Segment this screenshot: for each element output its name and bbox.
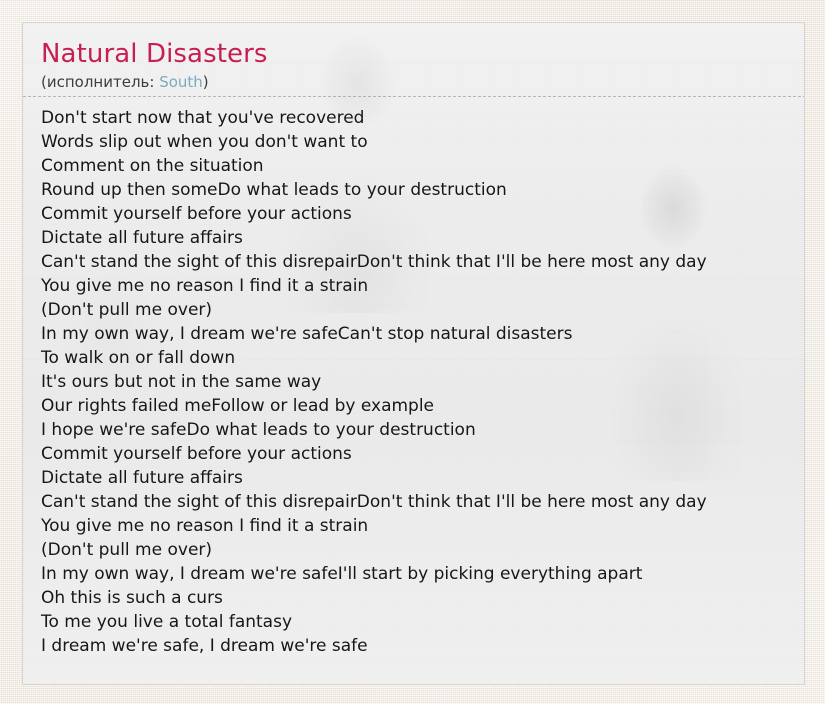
lyric-line: In my own way, I dream we're safeCan't s… [41,322,804,346]
artist-suffix-label: ) [203,73,209,91]
lyric-line: Commit yourself before your actions [41,442,804,466]
lyric-line: Commit yourself before your actions [41,202,804,226]
lyric-line: Our rights failed meFollow or lead by ex… [41,394,804,418]
page-root: Natural Disasters (исполнитель: South) D… [0,0,825,704]
lyrics-text: Don't start now that you've recoveredWor… [41,106,804,658]
lyric-line: Comment on the situation [41,154,804,178]
lyric-line: (Don't pull me over) [41,538,804,562]
lyric-line: Round up then someDo what leads to your … [41,178,804,202]
header-divider [23,96,805,97]
lyric-line: I dream we're safe, I dream we're safe [41,634,804,658]
lyric-line: Don't start now that you've recovered [41,106,804,130]
artist-prefix-label: (исполнитель: [41,73,159,91]
lyric-line: You give me no reason I find it a strain [41,274,804,298]
artist-link[interactable]: South [159,73,203,91]
lyric-line: To walk on or fall down [41,346,804,370]
lyric-line: (Don't pull me over) [41,298,804,322]
lyric-line: In my own way, I dream we're safeI'll st… [41,562,804,586]
lyric-line: Dictate all future affairs [41,226,804,250]
lyrics-container: Natural Disasters (исполнитель: South) D… [22,22,805,685]
lyric-line: Oh this is such a curs [41,586,804,610]
lyric-line: Can't stand the sight of this disrepairD… [41,490,804,514]
lyric-line: I hope we're safeDo what leads to your d… [41,418,804,442]
lyric-line: You give me no reason I find it a strain [41,514,804,538]
content-area: Natural Disasters (исполнитель: South) D… [23,23,804,658]
lyric-line: It's ours but not in the same way [41,370,804,394]
lyric-line: Dictate all future affairs [41,466,804,490]
artist-line: (исполнитель: South) [41,72,804,92]
lyric-line: To me you live a total fantasy [41,610,804,634]
lyric-line: Can't stand the sight of this disrepairD… [41,250,804,274]
song-title: Natural Disasters [41,39,804,69]
lyric-line: Words slip out when you don't want to [41,130,804,154]
